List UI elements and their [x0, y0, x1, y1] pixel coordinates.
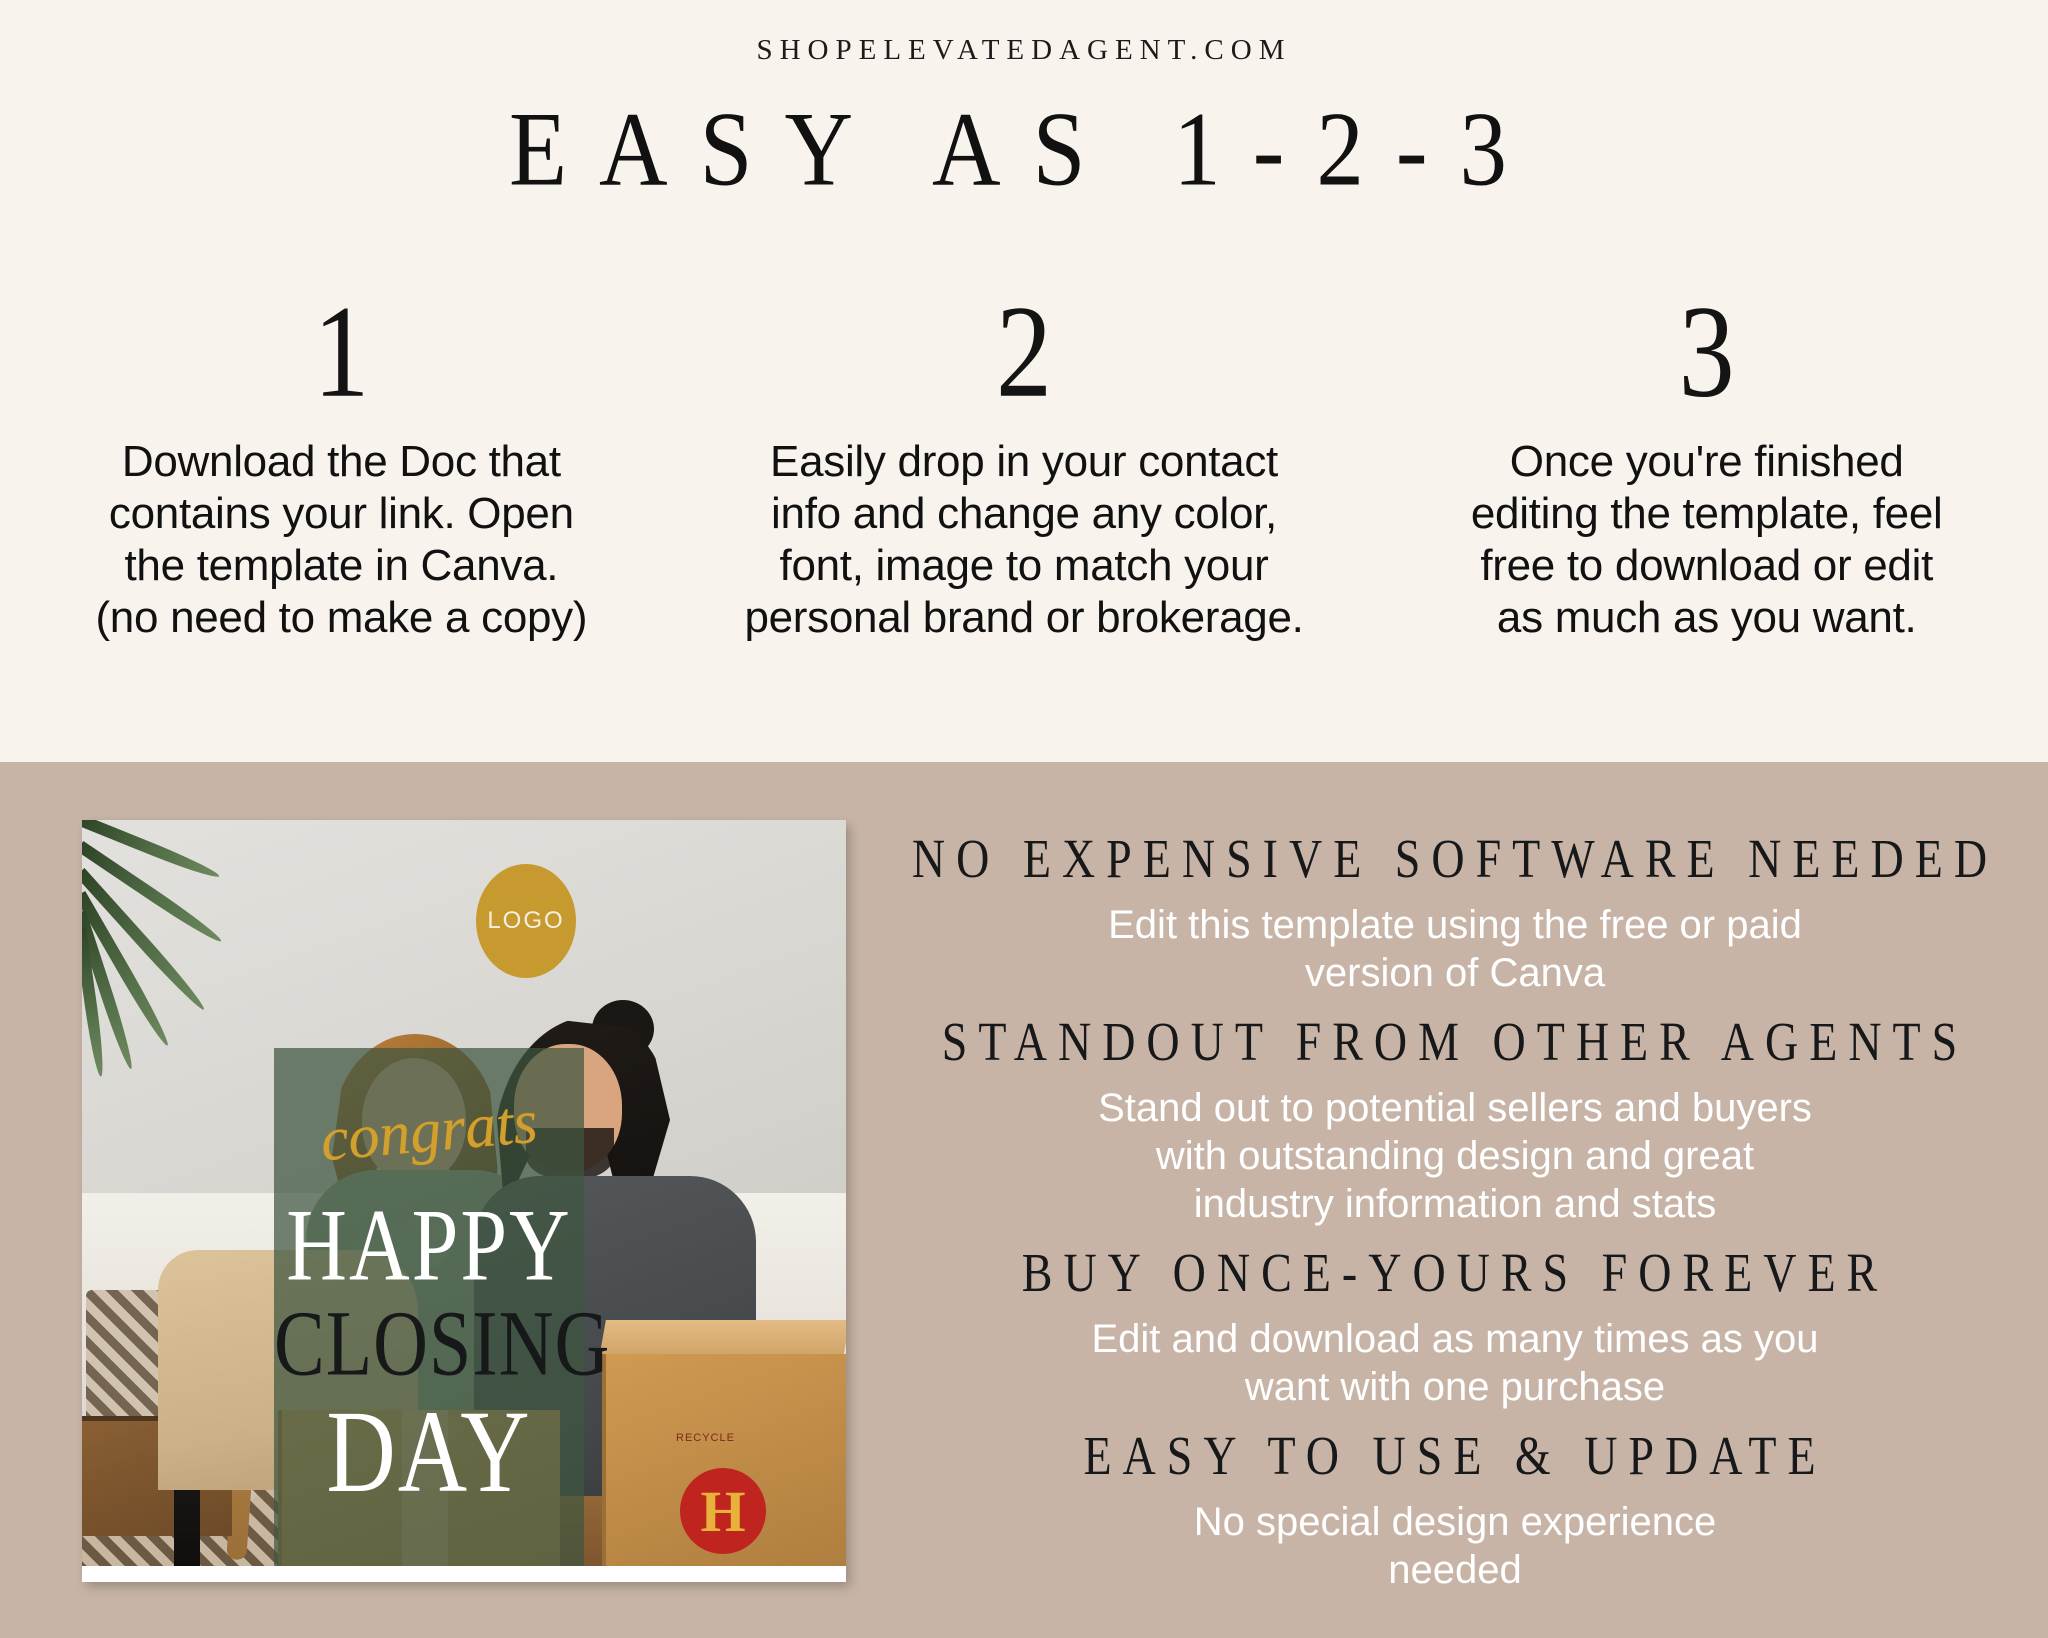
feature-title-4: EASY TO USE & UPDATE — [890, 1424, 2020, 1488]
feature-3: BUY ONCE-YOURS FOREVER Edit and download… — [890, 1246, 2020, 1411]
site-url: SHOPELEVATEDAGENT.COM — [0, 34, 2048, 67]
page-title: EASY AS 1-2-3 — [0, 96, 2048, 202]
feature-title-1: NO EXPENSIVE SOFTWARE NEEDED — [890, 827, 2020, 891]
feature-body-2: Stand out to potential sellers and buyer… — [890, 1084, 2020, 1228]
step-1: 1 Download the Doc that contains your li… — [0, 286, 683, 644]
title-line-closing: CLOSING — [274, 1300, 584, 1388]
feature-title-2: STANDOUT FROM OTHER AGENTS — [890, 1010, 2020, 1074]
promo-page: SHOPELEVATEDAGENT.COM EASY AS 1-2-3 1 Do… — [0, 0, 2048, 1638]
green-overlay-panel: congrats HAPPY CLOSING DAY — [274, 1048, 584, 1566]
box-h-logo-icon: H — [680, 1468, 766, 1554]
feature-body-4: No special design experience needed — [890, 1498, 2020, 1594]
title-line-day: DAY — [274, 1396, 584, 1507]
feature-title-3: BUY ONCE-YOURS FOREVER — [890, 1241, 2020, 1305]
congrats-script-text: congrats — [271, 1083, 586, 1181]
title-line-happy: HAPPY — [274, 1198, 584, 1295]
feature-2: STANDOUT FROM OTHER AGENTS Stand out to … — [890, 1015, 2020, 1228]
closing-day-title: HAPPY CLOSING DAY — [274, 1198, 584, 1487]
feature-1: NO EXPENSIVE SOFTWARE NEEDED Edit this t… — [890, 832, 2020, 997]
features-list: NO EXPENSIVE SOFTWARE NEEDED Edit this t… — [890, 832, 2020, 1612]
logo-placeholder-badge: LOGO — [476, 864, 576, 978]
feature-body-3: Edit and download as many times as you w… — [890, 1315, 2020, 1411]
step-2: 2 Easily drop in your contact info and c… — [683, 286, 1366, 644]
step-text-3: Once you're finished editing the templat… — [1391, 436, 2022, 644]
plant-icon — [82, 820, 302, 1104]
box-code-text: RECYCLE — [676, 1432, 735, 1444]
template-mockup-card: RECYCLE H LOGO congrats HAPPY CLOSING DA… — [82, 820, 846, 1582]
step-number-2: 2 — [709, 286, 1340, 418]
bottom-section: RECYCLE H LOGO congrats HAPPY CLOSING DA… — [0, 762, 2048, 1638]
step-text-1: Download the Doc that contains your link… — [26, 436, 657, 644]
step-number-3: 3 — [1391, 286, 2022, 418]
step-number-1: 1 — [26, 286, 657, 418]
step-text-2: Easily drop in your contact info and cha… — [709, 436, 1340, 644]
mockup-photo: RECYCLE H LOGO congrats HAPPY CLOSING DA… — [82, 820, 846, 1566]
feature-4: EASY TO USE & UPDATE No special design e… — [890, 1429, 2020, 1594]
feature-body-1: Edit this template using the free or pai… — [890, 901, 2020, 997]
steps-row: 1 Download the Doc that contains your li… — [0, 286, 2048, 644]
step-3: 3 Once you're finished editing the templ… — [1365, 286, 2048, 644]
top-section: SHOPELEVATEDAGENT.COM EASY AS 1-2-3 1 Do… — [0, 0, 2048, 762]
